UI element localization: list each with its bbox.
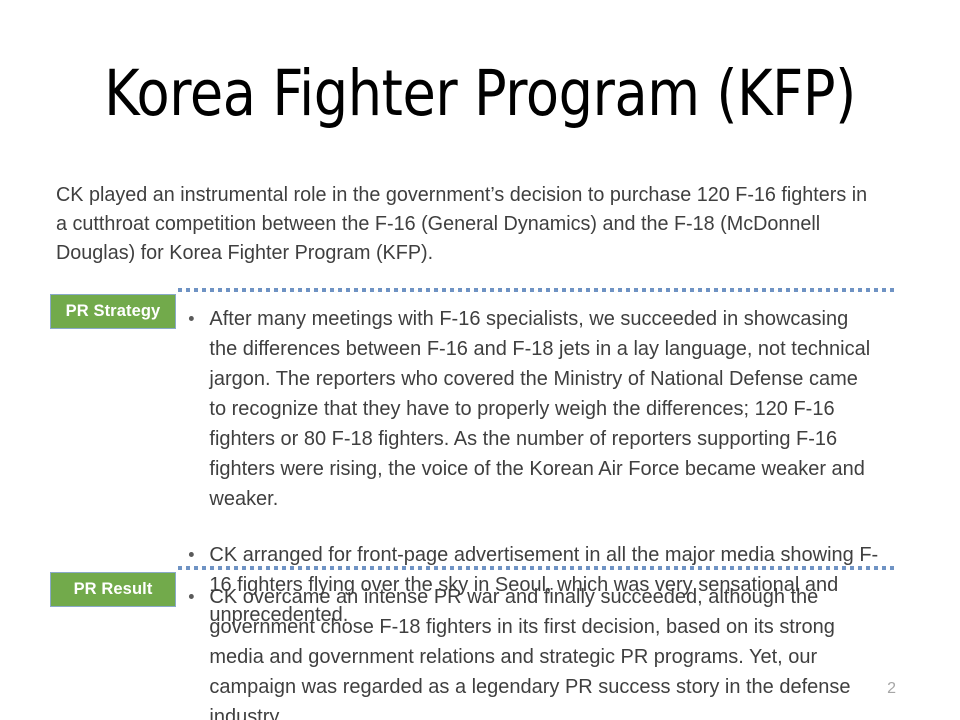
slide-canvas: Korea Fighter Program (KFP) CK played an…	[0, 0, 960, 720]
list-item: CK overcame an intense PR war and finall…	[186, 582, 878, 720]
dotted-divider	[178, 566, 896, 570]
bullet-dot-icon	[189, 594, 194, 599]
status-badge-pr-strategy: PR Strategy	[50, 294, 176, 329]
page-title: Korea Fighter Program (KFP)	[67, 52, 893, 136]
list-item: After many meetings with F-16 specialist…	[186, 304, 878, 514]
dotted-divider	[178, 288, 896, 292]
bullet-list-pr-result: CK overcame an intense PR war and finall…	[186, 582, 896, 720]
status-badge-pr-result: PR Result	[50, 572, 176, 607]
list-item-text: After many meetings with F-16 specialist…	[209, 307, 870, 510]
list-item-text: CK overcame an intense PR war and finall…	[209, 585, 850, 720]
intro-paragraph: CK played an instrumental role in the go…	[56, 180, 878, 267]
bullet-dot-icon	[189, 316, 194, 321]
bullet-dot-icon	[189, 552, 194, 557]
page-number: 2	[887, 680, 896, 698]
